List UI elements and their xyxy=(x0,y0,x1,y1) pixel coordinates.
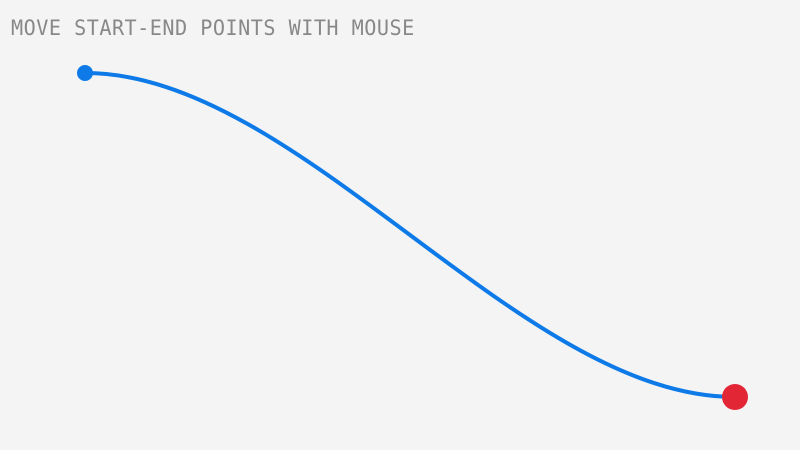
bezier-curve xyxy=(85,73,735,397)
start-point-handle[interactable] xyxy=(77,65,93,81)
curve-canvas[interactable] xyxy=(0,0,800,450)
end-point-handle[interactable] xyxy=(722,384,748,410)
curve-svg xyxy=(0,0,800,450)
bezier-editor-app: MOVE START-END POINTS WITH MOUSE xyxy=(0,0,800,450)
